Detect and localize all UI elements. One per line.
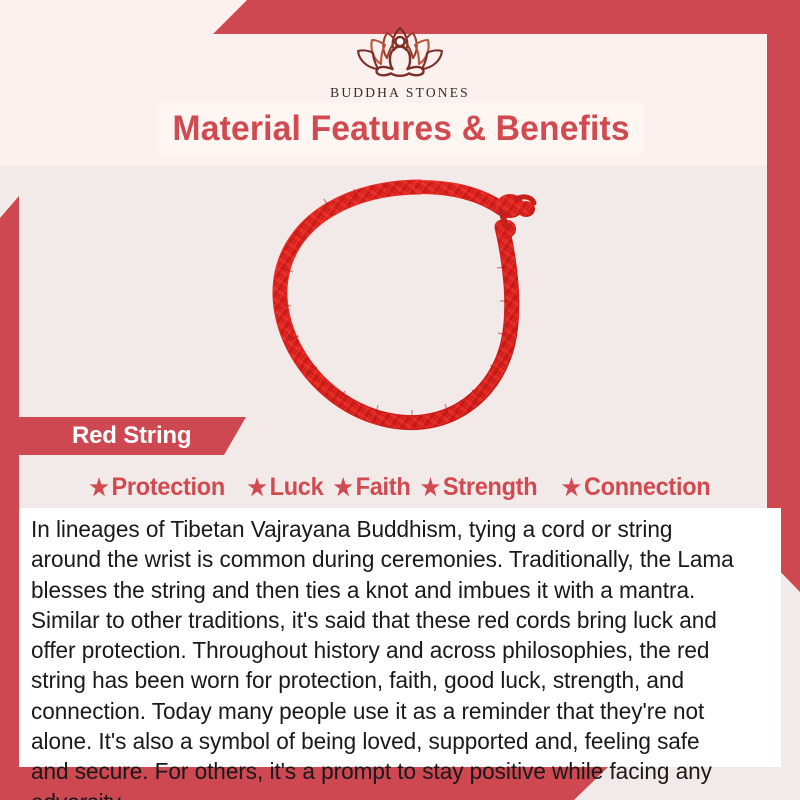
product-image-bracelet — [258, 165, 578, 450]
page-title: Material Features & Benefits — [172, 109, 629, 149]
benefits-row: ★ Protection ★ Luck ★ Faith ★ Strength ★… — [19, 468, 781, 506]
title-banner: Material Features & Benefits — [158, 103, 644, 155]
star-icon: ★ — [333, 476, 352, 499]
poster-canvas: BUDDHA STONES Material Features & Benefi… — [0, 0, 800, 800]
material-label-ribbon: Red String — [19, 417, 246, 455]
red-string-bracelet-illustration — [258, 165, 578, 450]
benefit-item-protection: ★ Protection — [89, 473, 225, 502]
star-icon: ★ — [247, 476, 266, 499]
decorative-ribbon-left — [0, 196, 19, 786]
brand-name: BUDDHA STONES — [330, 85, 470, 101]
benefit-label: Protection — [111, 473, 224, 502]
benefit-item-luck: ★ Luck — [247, 473, 323, 502]
material-label: Red String — [72, 422, 191, 450]
benefit-item-connection: ★ Connection — [562, 473, 711, 502]
description-body: In lineages of Tibetan Vajrayana Buddhis… — [31, 514, 741, 800]
description-panel: In lineages of Tibetan Vajrayana Buddhis… — [19, 508, 781, 767]
star-icon: ★ — [562, 476, 581, 499]
lotus-meditation-icon — [325, 16, 475, 82]
brand-logo: BUDDHA STONES — [0, 16, 800, 101]
benefit-item-strength: ★ Strength — [421, 473, 538, 502]
benefit-label: Strength — [443, 473, 537, 502]
star-icon: ★ — [89, 476, 108, 499]
benefit-label: Faith — [355, 473, 410, 502]
benefit-item-faith: ★ Faith — [333, 473, 410, 502]
benefit-label: Connection — [584, 473, 710, 502]
benefit-label: Luck — [269, 473, 323, 502]
star-icon: ★ — [421, 476, 440, 499]
